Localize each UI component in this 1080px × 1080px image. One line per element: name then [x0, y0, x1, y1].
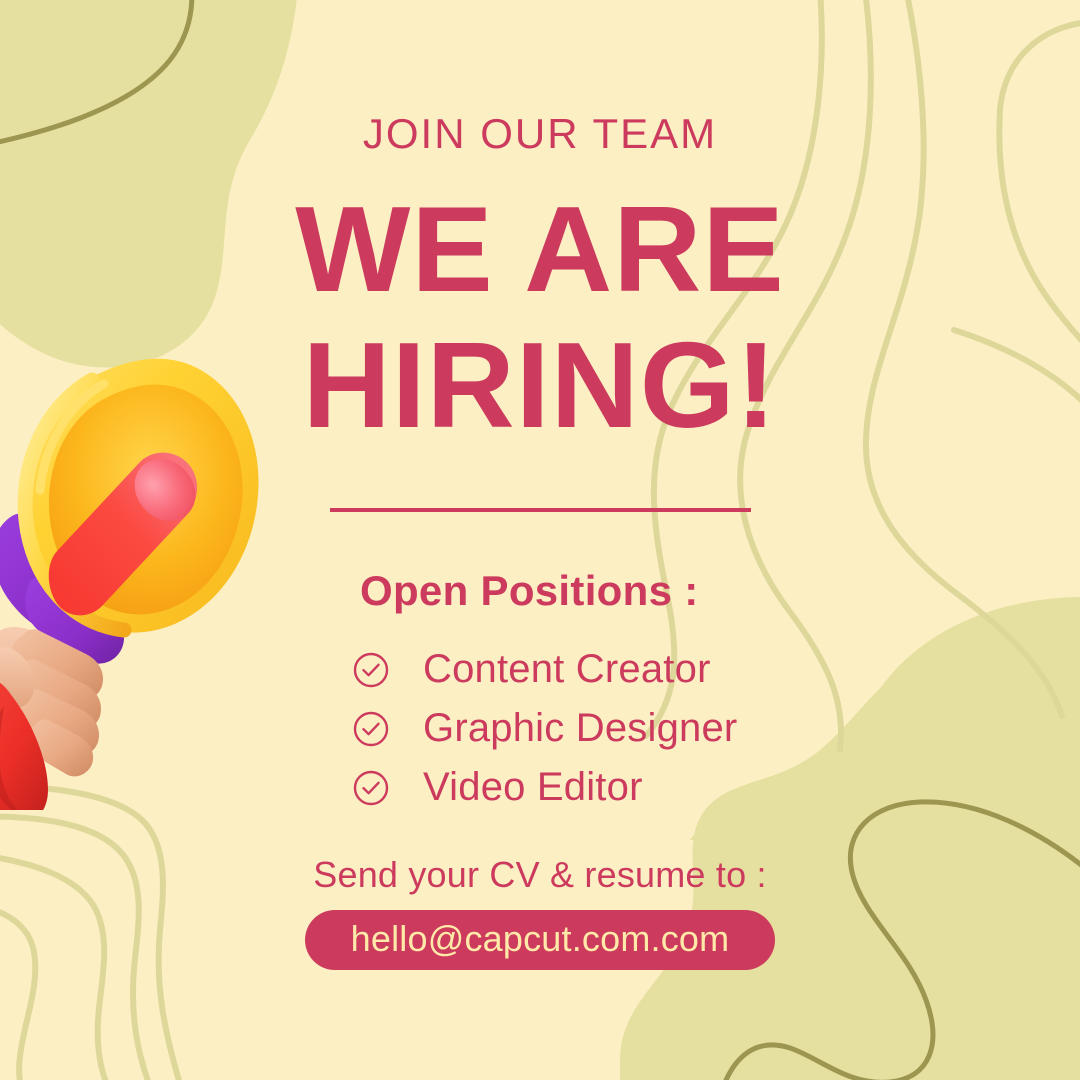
open-positions-title: Open Positions :: [360, 570, 698, 612]
list-item: Graphic Designer: [352, 699, 912, 758]
open-positions-list: Content Creator Graphic Designer: [352, 640, 912, 817]
cta-label: Send your CV & resume to :: [0, 857, 1080, 893]
position-label: Video Editor: [423, 765, 643, 810]
list-item: Video Editor: [352, 758, 912, 817]
list-item: Content Creator: [352, 640, 912, 699]
check-circle-icon: [352, 651, 390, 689]
position-label: Graphic Designer: [423, 706, 737, 751]
position-label: Content Creator: [423, 647, 711, 692]
headline-line-1: WE ARE: [0, 188, 1080, 310]
hiring-poster: JOIN OUR TEAM WE ARE HIRING! Open Positi…: [0, 0, 1080, 1080]
divider: [330, 508, 751, 512]
check-circle-icon: [352, 769, 390, 807]
headline-line-2: HIRING!: [0, 324, 1080, 446]
email-button[interactable]: hello@capcut.com.com: [305, 910, 775, 970]
check-circle-icon: [352, 710, 390, 748]
email-address: hello@capcut.com.com: [351, 921, 730, 957]
eyebrow-text: JOIN OUR TEAM: [0, 113, 1080, 155]
